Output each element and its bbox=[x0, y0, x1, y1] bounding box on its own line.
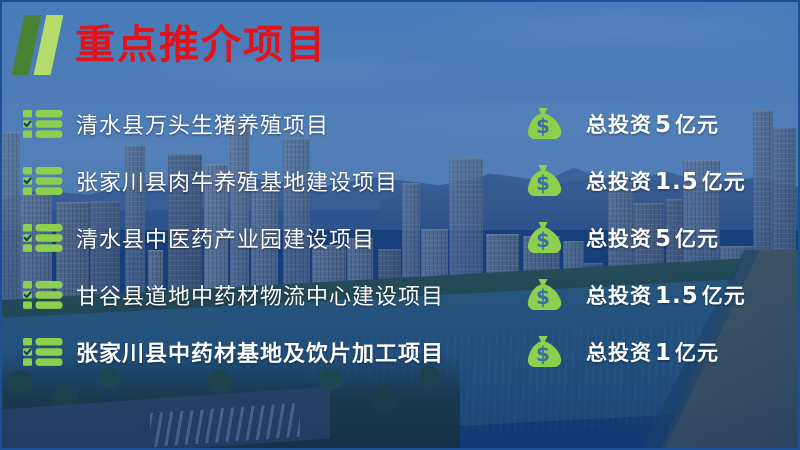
project-name-group: 清水县万头生猪养殖项目 bbox=[0, 108, 329, 140]
project-name-group: 甘谷县道地中药材物流中心建设项目 bbox=[0, 279, 444, 311]
investment-group: $ 总投资5亿元 bbox=[522, 107, 719, 141]
project-row[interactable]: 甘谷县道地中药材物流中心建设项目 $ 总投资1.5亿元 bbox=[0, 266, 800, 323]
investment-value: 1.5 bbox=[652, 169, 702, 195]
investment-group: $ 总投资1.5亿元 bbox=[522, 278, 746, 312]
investment-unit: 亿元 bbox=[702, 284, 746, 308]
investment-unit: 亿元 bbox=[702, 170, 746, 194]
investment-amount: 总投资1.5亿元 bbox=[586, 280, 746, 310]
money-bag-icon: $ bbox=[522, 335, 564, 369]
investment-amount: 总投资5亿元 bbox=[586, 223, 719, 253]
title-block: 重点推介项目 bbox=[18, 14, 327, 76]
investment-unit: 亿元 bbox=[675, 113, 719, 137]
checklist-icon bbox=[22, 166, 64, 196]
project-name: 甘谷县道地中药材物流中心建设项目 bbox=[76, 279, 444, 311]
investment-value: 1 bbox=[652, 340, 675, 366]
project-name-group: 张家川县肉牛养殖基地建设项目 bbox=[0, 165, 398, 197]
svg-text:$: $ bbox=[536, 228, 550, 252]
money-bag-icon: $ bbox=[522, 221, 564, 255]
project-name-group: 清水县中医药产业园建设项目 bbox=[0, 222, 375, 254]
investment-label: 总投资 bbox=[586, 284, 652, 308]
project-name: 张家川县肉牛养殖基地建设项目 bbox=[76, 165, 398, 197]
investment-amount: 总投资1亿元 bbox=[586, 337, 719, 367]
money-bag-icon: $ bbox=[522, 107, 564, 141]
investment-unit: 亿元 bbox=[675, 341, 719, 365]
project-name: 清水县中医药产业园建设项目 bbox=[76, 222, 375, 254]
project-name-group: 张家川县中药材基地及饮片加工项目 bbox=[0, 336, 444, 368]
project-row[interactable]: 清水县中医药产业园建设项目 $ 总投资5亿元 bbox=[0, 209, 800, 266]
checklist-icon bbox=[22, 280, 64, 310]
presentation-slide: 重点推介项目 清水县万头生猪养殖项目 $ 总投资5亿元 张家川县肉牛养殖基地建设… bbox=[0, 0, 800, 450]
svg-text:$: $ bbox=[536, 285, 550, 309]
investment-value: 5 bbox=[652, 112, 675, 138]
checklist-icon bbox=[22, 109, 64, 139]
investment-label: 总投资 bbox=[586, 227, 652, 251]
checklist-icon bbox=[22, 223, 64, 253]
investment-value: 5 bbox=[652, 226, 675, 252]
investment-label: 总投资 bbox=[586, 113, 652, 137]
money-bag-icon: $ bbox=[522, 164, 564, 198]
page-title: 重点推介项目 bbox=[75, 25, 327, 65]
project-name: 清水县万头生猪养殖项目 bbox=[76, 108, 329, 140]
project-name: 张家川县中药材基地及饮片加工项目 bbox=[76, 336, 444, 368]
project-row[interactable]: 清水县万头生猪养殖项目 $ 总投资5亿元 bbox=[0, 95, 800, 152]
investment-group: $ 总投资1亿元 bbox=[522, 335, 719, 369]
project-row[interactable]: 张家川县中药材基地及饮片加工项目 $ 总投资1亿元 bbox=[0, 323, 800, 380]
investment-group: $ 总投资5亿元 bbox=[522, 221, 719, 255]
svg-text:$: $ bbox=[536, 171, 550, 195]
svg-text:$: $ bbox=[536, 342, 550, 366]
checklist-icon bbox=[22, 337, 64, 367]
investment-label: 总投资 bbox=[586, 170, 652, 194]
money-bag-icon: $ bbox=[522, 278, 564, 312]
investment-amount: 总投资1.5亿元 bbox=[586, 166, 746, 196]
investment-label: 总投资 bbox=[586, 341, 652, 365]
investment-unit: 亿元 bbox=[675, 227, 719, 251]
project-row[interactable]: 张家川县肉牛养殖基地建设项目 $ 总投资1.5亿元 bbox=[0, 152, 800, 209]
investment-amount: 总投资5亿元 bbox=[586, 109, 719, 139]
slide-content: 重点推介项目 清水县万头生猪养殖项目 $ 总投资5亿元 张家川县肉牛养殖基地建设… bbox=[0, 0, 800, 450]
investment-value: 1.5 bbox=[652, 283, 702, 309]
project-list: 清水县万头生猪养殖项目 $ 总投资5亿元 张家川县肉牛养殖基地建设项目 $ 总投… bbox=[0, 95, 800, 380]
svg-text:$: $ bbox=[536, 114, 550, 138]
investment-group: $ 总投资1.5亿元 bbox=[522, 164, 746, 198]
